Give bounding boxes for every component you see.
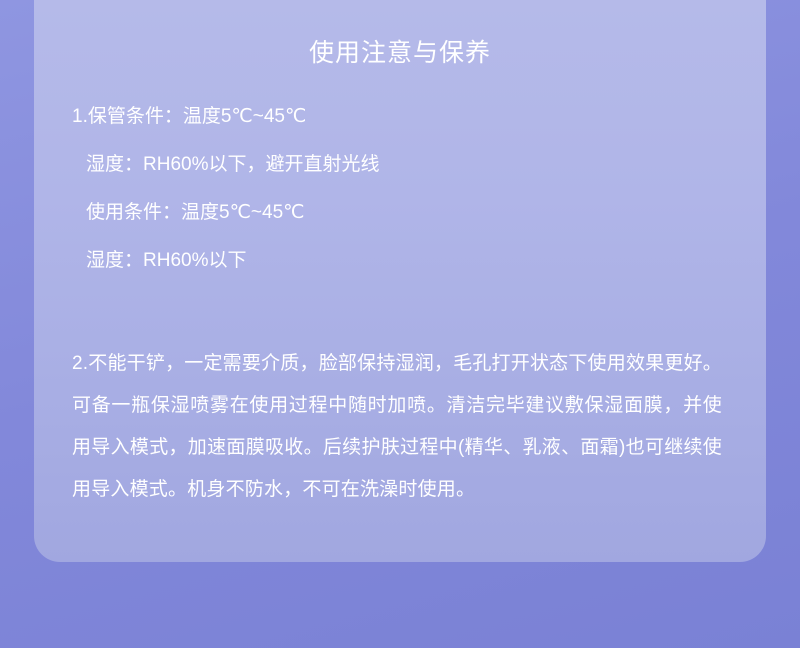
page-title: 使用注意与保养: [34, 36, 766, 70]
usage-notes-block: 2.不能干铲，一定需要介质，脸部保持湿润，毛孔打开状态下使用效果更好。可备一瓶保…: [72, 343, 722, 511]
spec-line-storage-condition: 1.保管条件：温度5℃~45℃: [72, 104, 728, 130]
spec-line-storage-humidity: 湿度：RH60%以下，避开直射光线: [72, 152, 728, 178]
product-detail-page: 使用注意与保养 1.保管条件：温度5℃~45℃ 湿度：RH60%以下，避开直射光…: [0, 0, 800, 648]
spec-line-usage-condition: 使用条件：温度5℃~45℃: [72, 200, 728, 226]
storage-spec-list: 1.保管条件：温度5℃~45℃ 湿度：RH60%以下，避开直射光线 使用条件：温…: [72, 104, 728, 274]
care-instructions-card: 使用注意与保养 1.保管条件：温度5℃~45℃ 湿度：RH60%以下，避开直射光…: [34, 0, 766, 562]
usage-notes-paragraph: 2.不能干铲，一定需要介质，脸部保持湿润，毛孔打开状态下使用效果更好。可备一瓶保…: [72, 343, 722, 511]
card-inner: 使用注意与保养 1.保管条件：温度5℃~45℃ 湿度：RH60%以下，避开直射光…: [34, 0, 766, 562]
spec-line-usage-humidity: 湿度：RH60%以下: [72, 248, 728, 274]
